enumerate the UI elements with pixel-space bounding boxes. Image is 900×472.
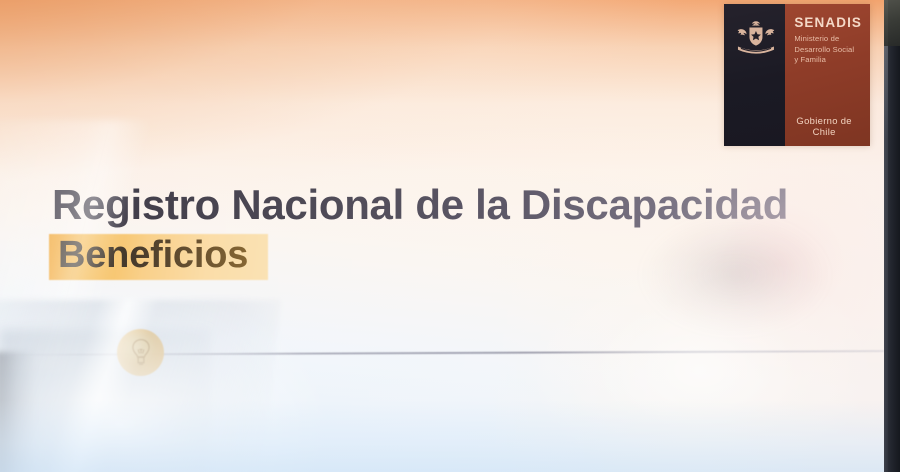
- monitor-bezel-top-corner: [884, 0, 900, 46]
- slide-title-block: Registro Nacional de la Discapacidad Ben…: [52, 183, 842, 279]
- logo-ministry-name: Ministerio de Desarrollo Social y Famili…: [794, 34, 866, 66]
- logo-brand-name: SENADIS: [794, 16, 866, 31]
- logo-text-panel: SENADIS Ministerio de Desarrollo Social …: [785, 4, 870, 146]
- lightbulb-icon: [129, 338, 153, 368]
- glare-dark-left-edge: [0, 352, 36, 472]
- logo-ministry-line-1: Ministerio de: [794, 34, 866, 45]
- presentation-slide: Registro Nacional de la Discapacidad Ben…: [0, 0, 884, 472]
- glare-hotspot-lower-left: [0, 280, 330, 472]
- logo-government-label: Gobierno de Chile: [785, 115, 863, 137]
- logo-brand-block: SENADIS Ministerio de Desarrollo Social …: [794, 16, 866, 66]
- logo-ministry-line-3: y Familia: [794, 55, 866, 66]
- chile-coat-of-arms-icon: [732, 20, 780, 60]
- monitor-bezel-right: [884, 0, 900, 472]
- glare-window-frame-reflection: [0, 300, 281, 472]
- slide-subtitle: Beneficios: [52, 232, 254, 279]
- senadis-logo: SENADIS Ministerio de Desarrollo Social …: [724, 4, 870, 146]
- lightbulb-badge: [117, 329, 164, 376]
- glare-hotspot-lower-right: [520, 250, 880, 472]
- slide-subtitle-wrapper: Beneficios: [52, 232, 254, 279]
- screenshot-photo-of-projected-slide: Registro Nacional de la Discapacidad Ben…: [0, 0, 900, 472]
- glare-bottom-blue-wash: [0, 400, 884, 472]
- logo-emblem-panel: [724, 4, 785, 146]
- glare-window-pane-reflection: [0, 330, 210, 472]
- slide-title: Registro Nacional de la Discapacidad: [52, 183, 842, 228]
- logo-ministry-line-2: Desarrollo Social: [794, 45, 866, 56]
- bezel-gloss-highlight: [884, 0, 888, 472]
